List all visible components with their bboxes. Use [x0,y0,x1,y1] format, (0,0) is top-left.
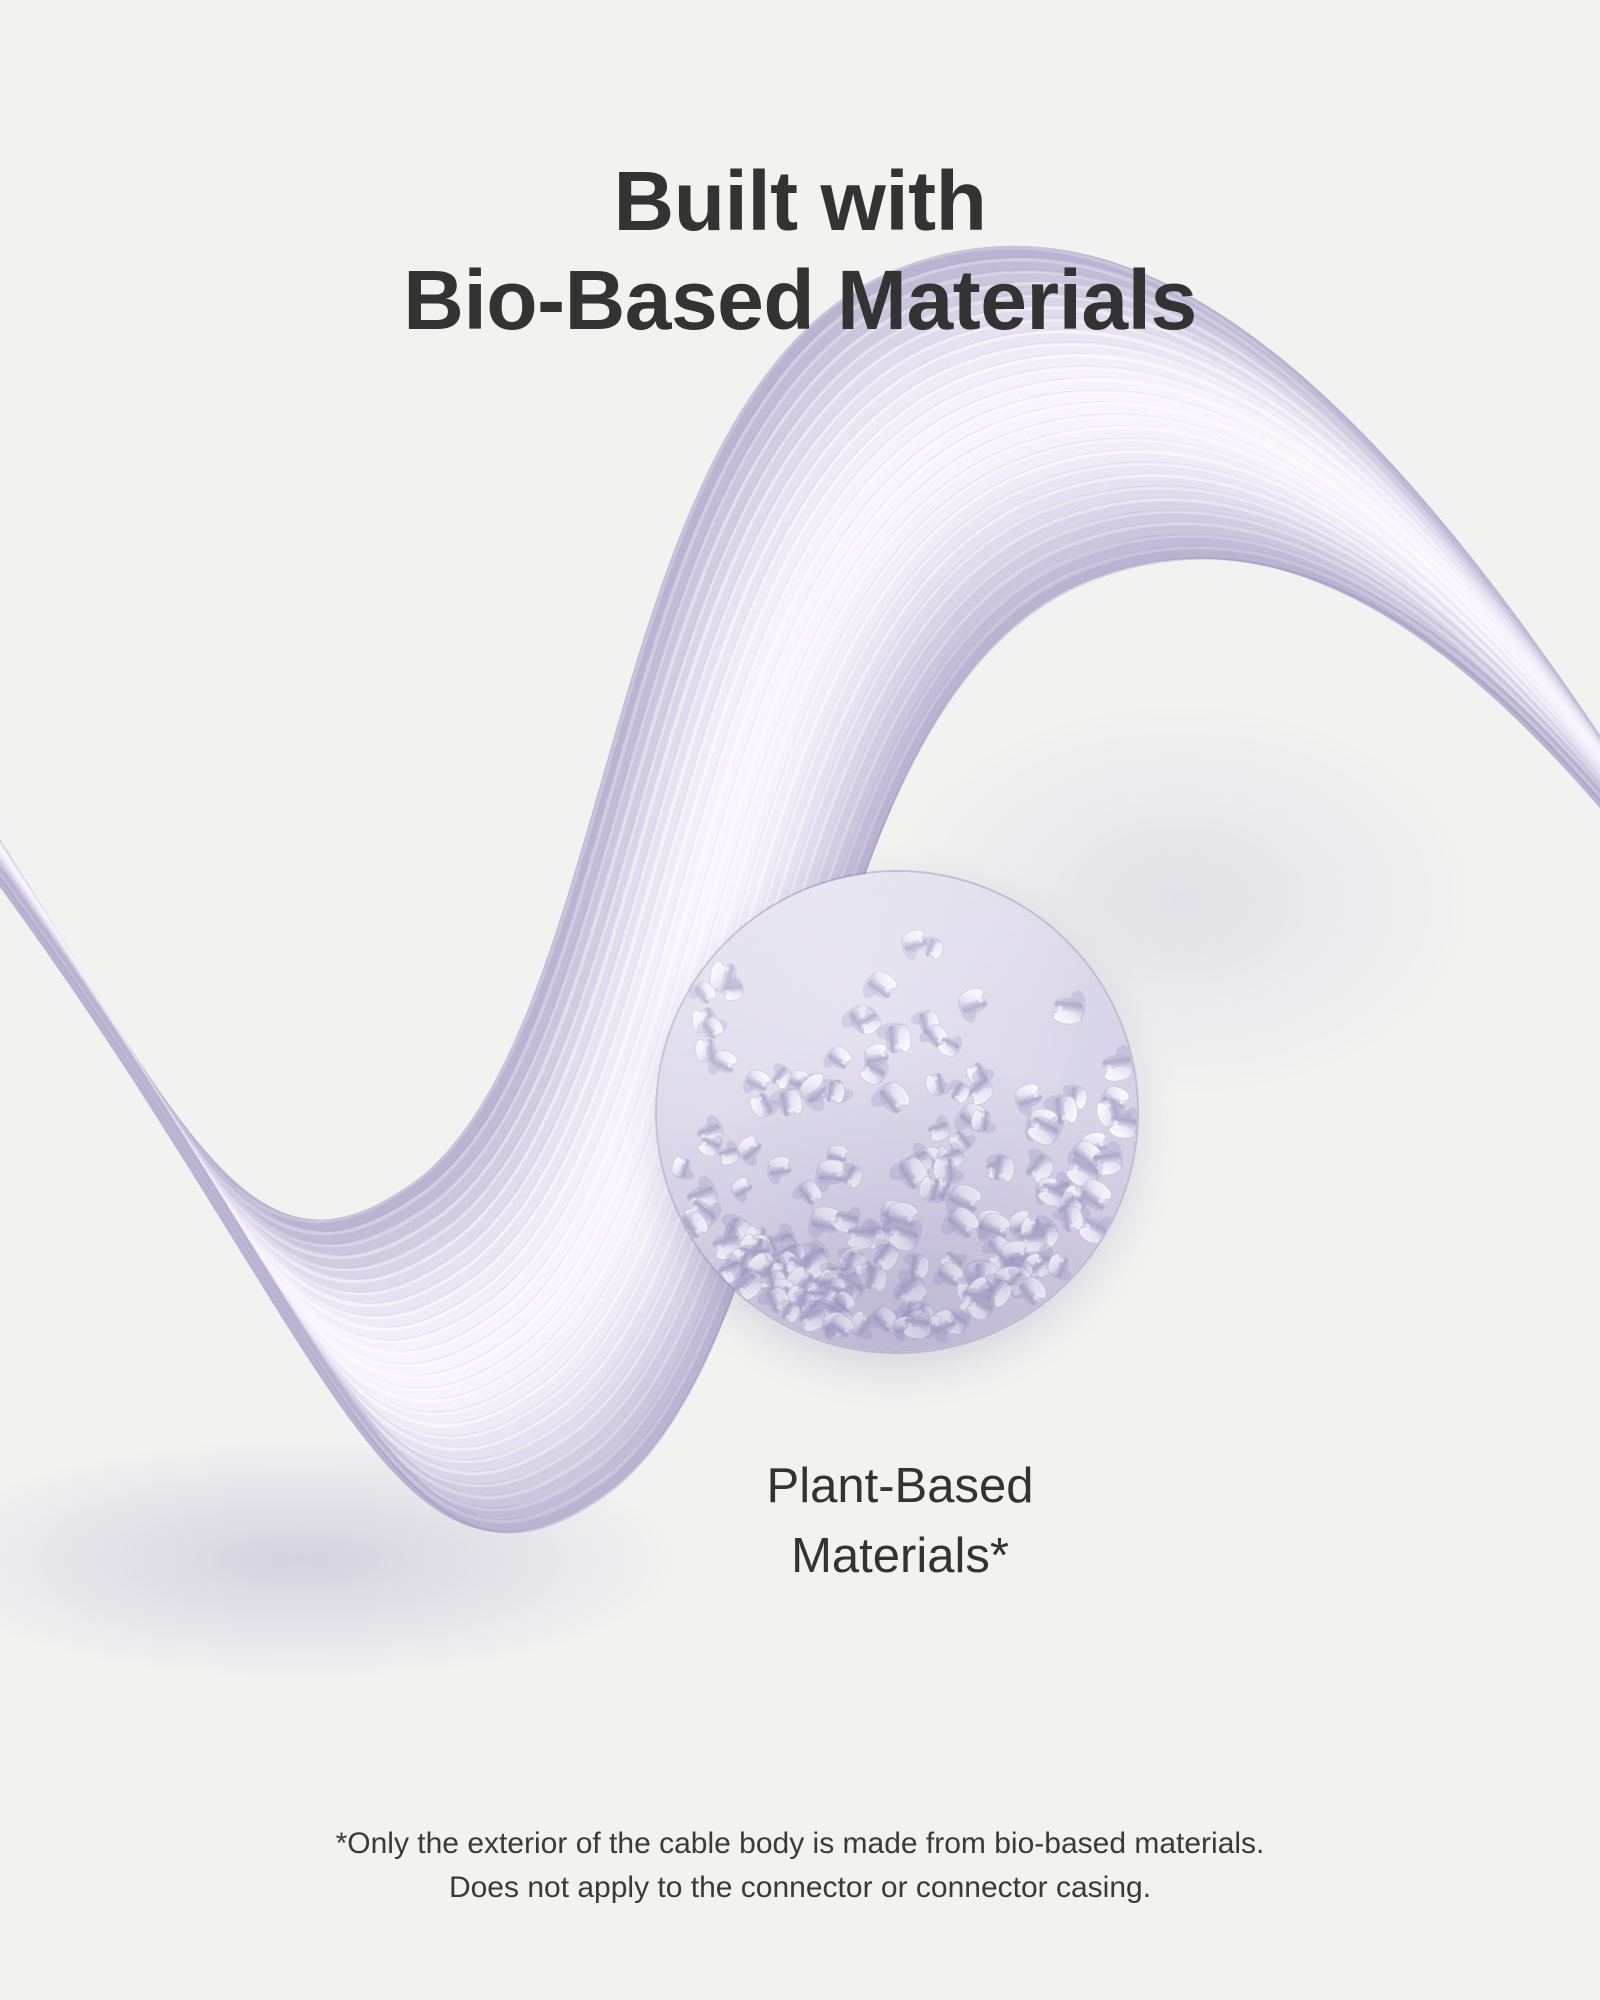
caption-line-2: Materials* [520,1522,1280,1592]
caption-line-1: Plant-Based [520,1452,1280,1522]
plastic-pellets-illustration [657,872,1137,1352]
pellet-closeup-inset [657,872,1137,1352]
footnote-line-2: Does not apply to the connector or conne… [100,1866,1500,1910]
footnote-line-1: *Only the exterior of the cable body is … [100,1822,1500,1866]
marketing-panel: Built with Bio-Based Materials Plant-Bas… [0,0,1600,2000]
headline: Built with Bio-Based Materials [0,152,1600,349]
inset-caption: Plant-Based Materials* [520,1452,1280,1591]
headline-line-1: Built with [0,152,1600,250]
headline-line-2: Bio-Based Materials [0,251,1600,349]
footnote-disclaimer: *Only the exterior of the cable body is … [100,1822,1500,1911]
